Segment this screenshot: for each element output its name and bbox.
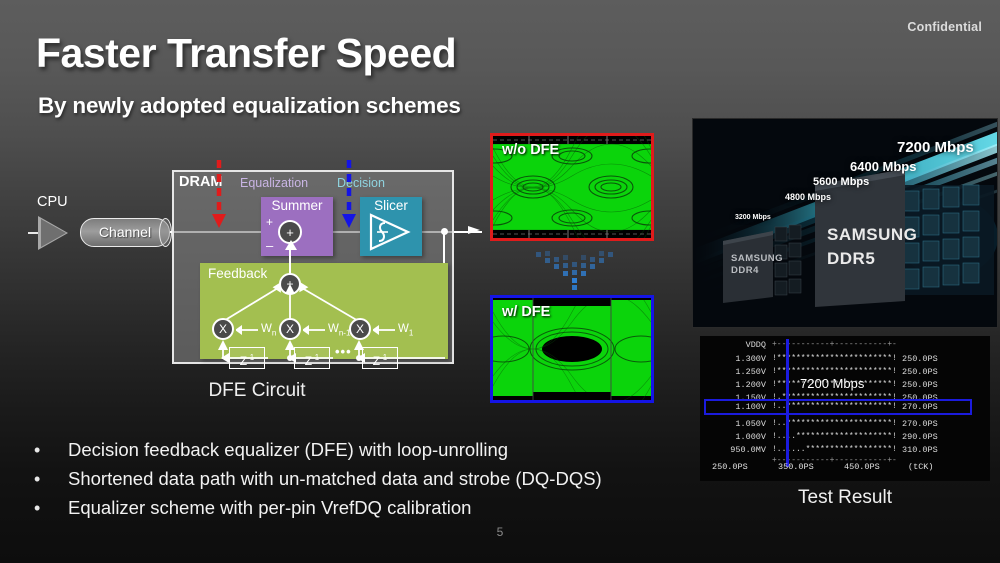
bullet-marker: • — [34, 437, 40, 463]
dfe-caption: DFE Circuit — [22, 380, 492, 402]
decision-blue-arrow-icon — [340, 160, 358, 240]
chart-highlight-row-box — [704, 399, 972, 415]
bullet-marker: • — [34, 495, 40, 521]
summer-plus-sign: + — [266, 215, 273, 229]
chart-row-stars-1: !************************! — [772, 367, 897, 376]
page-subtitle: By newly adopted equalization schemes — [38, 93, 461, 119]
bullet-item-2: • Equalizer scheme with per-pin VrefDQ c… — [26, 495, 726, 521]
chart-row-window-2: 250.0PS — [902, 380, 938, 390]
chart-row-stars-0: !************************! — [772, 354, 897, 363]
chart-ylabel: VDDQ — [700, 340, 766, 350]
speed-label-7200: 7200 Mbps — [897, 139, 974, 156]
ddr5-product-image: SAMSUNG DDR4 SAMSUNG DDR5 3200 Mbps 4800… — [692, 118, 998, 328]
ddr5-gen-label: DDR5 — [827, 249, 875, 269]
page-title: Faster Transfer Speed — [36, 30, 456, 77]
bullet-item-0: • Decision feedback equalizer (DFE) with… — [26, 437, 726, 463]
bullet-marker: • — [34, 466, 40, 492]
output-arrow-icon — [468, 224, 484, 240]
test-result-caption: Test Result — [700, 487, 990, 509]
chart-row-window-6: 290.0PS — [902, 432, 938, 442]
ddr4-brand-label: SAMSUNG — [731, 253, 783, 264]
bullet-item-1: • Shortened data path with un-matched da… — [26, 466, 726, 492]
chart-row-window-1: 250.0PS — [902, 367, 938, 377]
eye-tag-without-dfe: w/o DFE — [502, 142, 559, 158]
feedback-to-summer-arrow-icon — [284, 240, 298, 252]
summer-label: Summer — [265, 198, 329, 213]
bullet-text-1: Shortened data path with un-matched data… — [68, 468, 602, 489]
chart-axis-top: +-----------+-----------+- — [772, 340, 897, 349]
weight-arrow-wn-icon — [236, 324, 258, 336]
confidential-label: Confidential — [907, 20, 982, 34]
transition-chevron-icon — [534, 250, 614, 294]
chart-row-stars-6: !....********************! — [772, 432, 897, 441]
chart-xlabel: (tCK) — [908, 462, 934, 472]
eye-tag-with-dfe: w/ DFE — [502, 304, 550, 320]
slide: Confidential Faster Transfer Speed By ne… — [0, 0, 1000, 563]
weight-arrow-w1-icon — [373, 324, 395, 336]
eye-diagram-with-dfe: w/ DFE — [490, 295, 654, 403]
speed-label-5600: 5600 Mbps — [813, 176, 869, 188]
ddr4-gen-label: DDR4 — [731, 265, 759, 276]
slicer-label: Slicer — [361, 198, 421, 213]
feedback-branch-wires — [202, 280, 452, 326]
chart-row-window-5: 270.0PS — [902, 419, 938, 429]
eye-diagram-without-dfe: w/o DFE — [490, 133, 654, 241]
ddr5-brand-label: SAMSUNG — [827, 225, 917, 245]
bullet-text-2: Equalizer scheme with per-pin VrefDQ cal… — [68, 497, 471, 518]
speed-label-6400: 6400 Mbps — [850, 159, 916, 174]
chart-row-label-0: 1.300V — [700, 354, 766, 364]
chart-row-stars-5: !..**********************! — [772, 419, 897, 428]
chart-xtick-1: 350.0PS — [778, 462, 814, 472]
slicer-amplifier-icon — [368, 213, 412, 251]
chart-row-label-5: 1.050V — [700, 419, 766, 429]
feedback-label: Feedback — [208, 266, 267, 281]
chart-row-window-7: 310.0PS — [902, 445, 938, 455]
speed-label-4800: 4800 Mbps — [785, 192, 831, 202]
bullet-list: • Decision feedback equalizer (DFE) with… — [26, 437, 726, 524]
chart-row-label-1: 1.250V — [700, 367, 766, 377]
summer-minus-sign: – — [266, 238, 273, 253]
chart-xtick-2: 450.0PS — [844, 462, 880, 472]
delay-chain-wires — [202, 336, 450, 372]
cpu-driver-fill-icon — [41, 219, 66, 247]
channel-block: Channel — [80, 218, 170, 247]
speed-label-3200: 3200 Mbps — [735, 214, 771, 221]
dfe-circuit-diagram: CPU Channel DRAM Equalization Decision S… — [22, 160, 492, 420]
weight-arrow-wn1-icon — [303, 324, 325, 336]
cpu-label: CPU — [37, 194, 68, 210]
chart-row-window-0: 250.0PS — [902, 354, 938, 364]
test-result-chart: VDDQ +-----------+-----------+- 1.300V !… — [700, 336, 990, 481]
chart-annotation-7200: 7200 Mbps — [800, 376, 864, 391]
equalization-label: Equalization — [240, 176, 308, 190]
equalization-red-arrow-icon — [210, 160, 228, 240]
bullet-text-0: Decision feedback equalizer (DFE) with l… — [68, 439, 508, 460]
chart-row-label-2: 1.200V — [700, 380, 766, 390]
page-number: 5 — [0, 525, 1000, 539]
chart-row-stars-7: !......******************! — [772, 445, 897, 454]
